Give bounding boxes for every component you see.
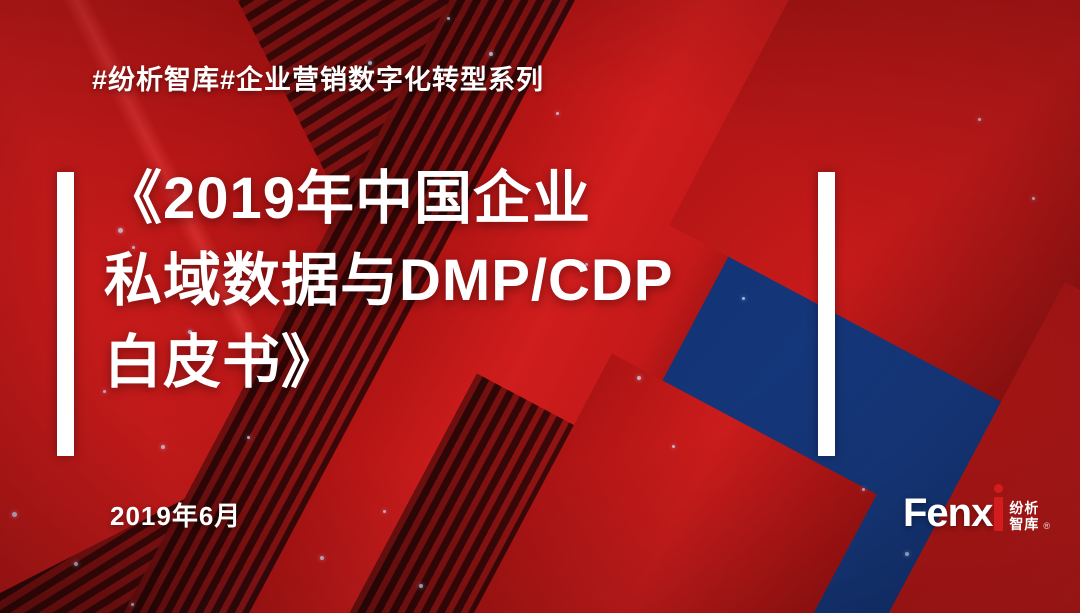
logo-i-letter-icon <box>994 497 1003 531</box>
left-vertical-rule <box>57 172 74 456</box>
logo-wordmark-fen: Fen <box>903 493 971 533</box>
title-line-1: 《2019年中国企业 <box>104 158 804 240</box>
whitepaper-cover-slide: #纷析智库#企业营销数字化转型系列 《2019年中国企业 私域数据与DMP/CD… <box>0 0 1080 613</box>
title-line-3: 白皮书》 <box>104 322 804 404</box>
title-line-2: 私域数据与DMP/CDP <box>104 240 804 322</box>
logo-wordmark-x: x <box>971 493 992 533</box>
registered-trademark-icon: ® <box>1043 521 1050 531</box>
logo-cn-line-1: 纷析 <box>1009 500 1039 516</box>
page-title: 《2019年中国企业 私域数据与DMP/CDP 白皮书》 <box>104 158 804 404</box>
publication-date: 2019年6月 <box>110 496 241 533</box>
fenxi-logo: Fen x 纷析 智库 ® <box>903 487 1050 533</box>
right-vertical-rule <box>818 172 835 456</box>
logo-cn-line-2: 智库 <box>1009 516 1039 532</box>
series-eyebrow-text: #纷析智库#企业营销数字化转型系列 <box>92 58 544 97</box>
logo-chinese-name: 纷析 智库 <box>1009 500 1039 532</box>
slide-content: #纷析智库#企业营销数字化转型系列 《2019年中国企业 私域数据与DMP/CD… <box>0 0 1080 613</box>
